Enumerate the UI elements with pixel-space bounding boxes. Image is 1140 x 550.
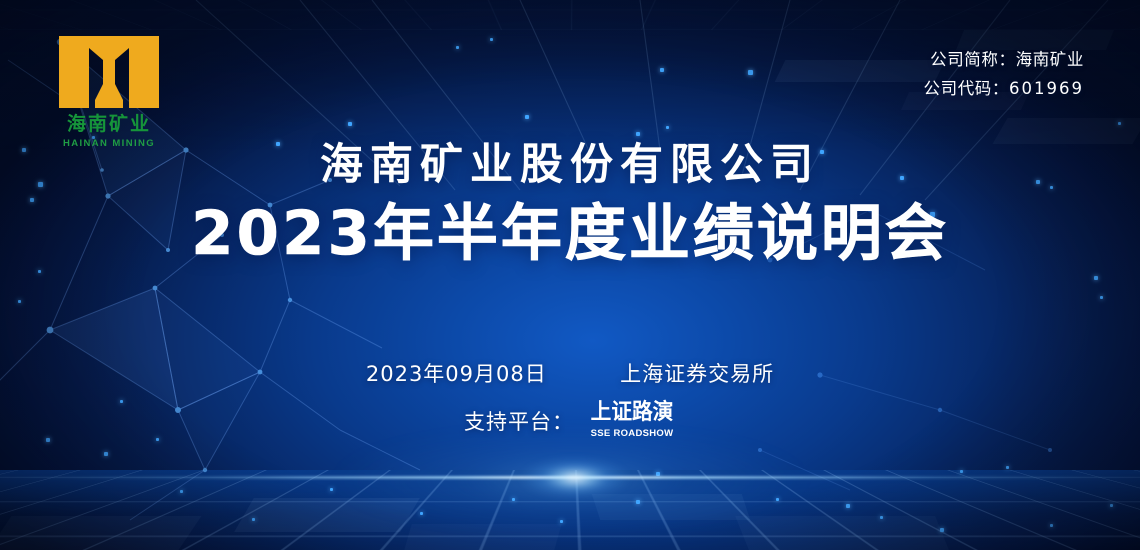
event-info: 2023年09月08日 上海证券交易所 支持平台： 上证路演 SSE ROADS… — [0, 358, 1140, 440]
event-date: 2023年09月08日 — [366, 362, 547, 386]
company-abbr-label: 公司简称： — [930, 50, 1016, 69]
company-code-label: 公司代码： — [924, 79, 1010, 98]
company-abbr-value: 海南矿业 — [1016, 50, 1084, 69]
sse-logo-cn: 上证路演 — [591, 402, 674, 424]
event-date-venue-row: 2023年09月08日 上海证券交易所 — [0, 358, 1140, 388]
title-line-1: 海南矿业股份有限公司 — [0, 140, 1140, 191]
event-venue: 上海证券交易所 — [620, 362, 774, 386]
company-meta: 公司简称：海南矿业 公司代码：601969 — [924, 46, 1085, 103]
company-code-value: 601969 — [1009, 79, 1084, 98]
company-code-line: 公司代码：601969 — [924, 75, 1085, 104]
sse-roadshow-logo: 上证路演 SSE ROADSHOW — [588, 402, 676, 440]
company-abbr-line: 公司简称：海南矿业 — [924, 46, 1085, 75]
page-title: 海南矿业股份有限公司 2023年半年度业绩说明会 — [0, 140, 1140, 270]
support-platform-label: 支持平台： — [464, 406, 574, 436]
m-letter-logo-icon — [57, 34, 161, 110]
presentation-banner: 海南矿业 HAINAN MINING 公司简称：海南矿业 公司代码：601969… — [0, 0, 1140, 550]
title-line-2: 2023年半年度业绩说明会 — [0, 197, 1140, 270]
logo-name-cn: 海南矿业 — [44, 114, 174, 135]
company-logo: 海南矿业 HAINAN MINING — [44, 34, 174, 149]
sse-logo-en: SSE ROADSHOW — [591, 428, 674, 439]
support-platform-row: 支持平台： 上证路演 SSE ROADSHOW — [0, 402, 1140, 440]
